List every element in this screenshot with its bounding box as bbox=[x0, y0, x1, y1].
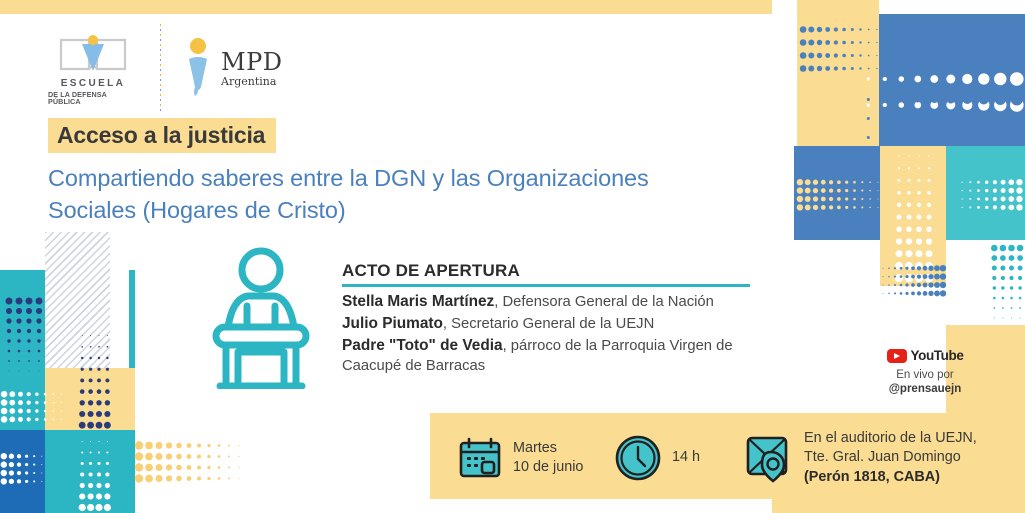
mpd-logo-name: MPD bbox=[221, 50, 282, 74]
event-place-line3: (Perón 1818, CABA) bbox=[804, 469, 940, 485]
event-info-bar: Martes 10 de junio 14 h bbox=[430, 413, 1025, 499]
escuela-logo-subtitle: DE LA DEFENSA PÚBLICA bbox=[48, 91, 138, 105]
youtube-play-icon bbox=[887, 349, 907, 363]
mpd-logo-subtitle: Argentina bbox=[221, 76, 282, 87]
person-figure-icon bbox=[183, 37, 213, 99]
speaker-name: Julio Piumato bbox=[342, 315, 443, 332]
event-date-line2: 10 de junio bbox=[513, 458, 583, 477]
event-date-text: Martes 10 de junio bbox=[513, 439, 583, 478]
event-place-text: En el auditorio de la UEJN, Tte. Gral. J… bbox=[804, 429, 977, 487]
program-section-title: ACTO DE APERTURA bbox=[342, 261, 762, 281]
logo-row: ESCUELA DE LA DEFENSA PÚBLICA MPD Argent… bbox=[48, 24, 282, 112]
livestream-block[interactable]: YouTube En vivo por @prensauejn bbox=[885, 348, 965, 397]
mpd-logo: MPD Argentina bbox=[183, 37, 282, 99]
livestream-handle: @prensauejn bbox=[885, 382, 965, 396]
speaker-role: , Secretario General de la UEJN bbox=[443, 316, 654, 332]
livestream-caption: En vivo por bbox=[885, 368, 965, 382]
page-subtitle: Compartiendo saberes entre la DGN y las … bbox=[48, 163, 658, 227]
event-time-item: 14 h bbox=[615, 435, 700, 481]
speaker-name: Stella Maris Martínez bbox=[342, 293, 494, 310]
event-time-text: 14 h bbox=[672, 448, 700, 467]
escuela-logo-name: ESCUELA bbox=[61, 79, 126, 89]
program-rule bbox=[342, 284, 750, 287]
youtube-label: YouTube bbox=[911, 348, 964, 363]
speaker-row: Stella Maris Martínez, Defensora General… bbox=[342, 291, 762, 312]
event-date-item: Martes 10 de junio bbox=[458, 437, 583, 479]
speaker-role: , Defensora General de la Nación bbox=[494, 294, 714, 310]
map-pin-icon bbox=[745, 432, 793, 484]
program-block: ACTO DE APERTURA Stella Maris Martínez, … bbox=[342, 261, 762, 377]
event-place-item: En el auditorio de la UEJN, Tte. Gral. J… bbox=[745, 429, 977, 487]
calendar-icon bbox=[458, 437, 502, 479]
event-place-line1: En el auditorio de la UEJN, bbox=[804, 429, 977, 448]
speaker-row: Padre "Toto" de Vedia, párroco de la Par… bbox=[342, 335, 762, 377]
open-book-icon bbox=[57, 31, 129, 75]
poster-canvas: ESCUELA DE LA DEFENSA PÚBLICA MPD Argent… bbox=[0, 0, 1025, 513]
youtube-logo[interactable]: YouTube bbox=[885, 348, 965, 363]
speaker-row: Julio Piumato, Secretario General de la … bbox=[342, 313, 762, 334]
event-date-line1: Martes bbox=[513, 439, 583, 458]
logo-divider bbox=[160, 24, 161, 112]
clock-icon bbox=[615, 435, 661, 481]
podium-speaker-icon bbox=[206, 244, 316, 389]
speaker-name: Padre "Toto" de Vedia bbox=[342, 337, 503, 354]
event-place-line2: Tte. Gral. Juan Domingo bbox=[804, 448, 977, 467]
escuela-logo: ESCUELA DE LA DEFENSA PÚBLICA bbox=[48, 31, 138, 105]
kicker-wrapper: Acceso a la justicia bbox=[48, 118, 276, 153]
page-title-kicker: Acceso a la justicia bbox=[48, 118, 276, 153]
